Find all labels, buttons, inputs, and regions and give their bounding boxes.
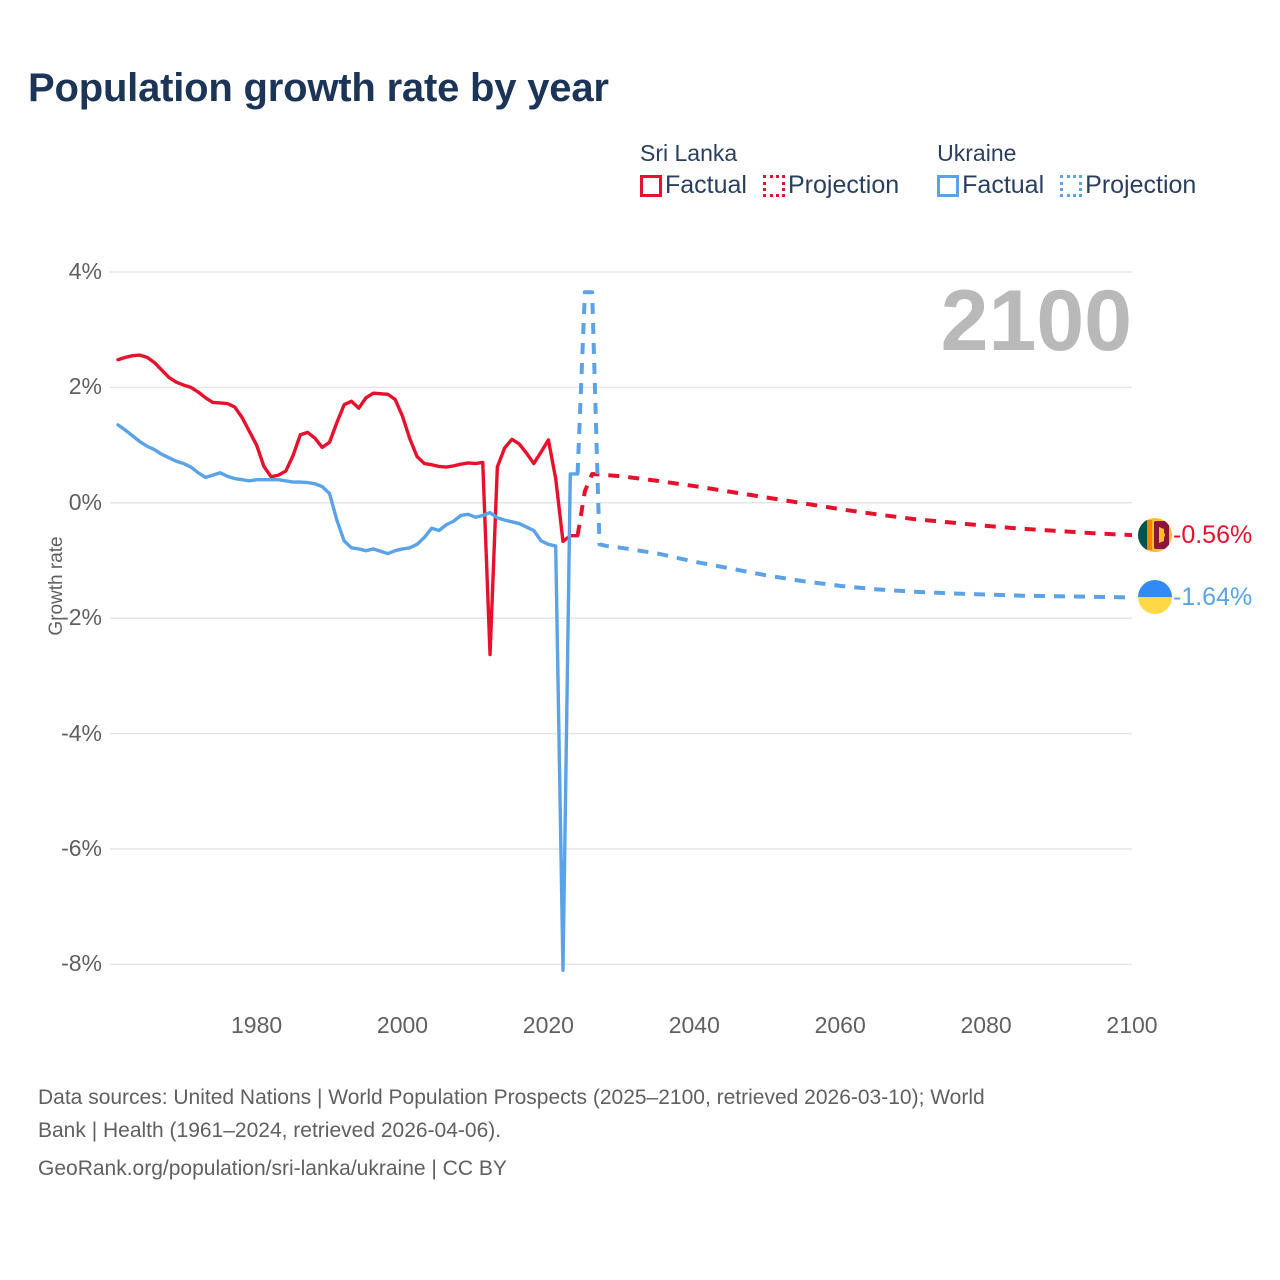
y-axis-title: Growth rate [46, 506, 68, 666]
series-line [118, 355, 578, 654]
x-tick-label: 2020 [488, 1012, 608, 1039]
x-tick-label: 1980 [197, 1012, 317, 1039]
footer-sources-line1: Data sources: United Nations | World Pop… [38, 1082, 1238, 1115]
x-tick-label: 2040 [634, 1012, 754, 1039]
sri-lanka-flag-icon [1138, 518, 1172, 552]
x-tick-label: 2080 [926, 1012, 1046, 1039]
y-tick-label: -6% [0, 835, 102, 862]
watermark-year: 2100 [941, 278, 1132, 364]
y-tick-label: 0% [0, 489, 102, 516]
plot-svg [0, 0, 1280, 1060]
y-tick-label: -8% [0, 950, 102, 977]
y-tick-label: 2% [0, 373, 102, 400]
end-label-ukraine: -1.64% [1138, 580, 1252, 614]
ukraine-flag-icon [1138, 580, 1172, 614]
plot-area [0, 0, 1280, 1060]
footer: Data sources: United Nations | World Pop… [38, 1082, 1238, 1186]
y-tick-label: 4% [0, 258, 102, 285]
gridlines [110, 272, 1132, 964]
series-layer [118, 292, 1132, 970]
x-tick-label: 2060 [780, 1012, 900, 1039]
chart-container: Population growth rate by year Sri Lanka… [0, 0, 1280, 1280]
footer-sources-line2: Bank | Health (1961–2024, retrieved 2026… [38, 1115, 1238, 1148]
x-tick-label: 2000 [343, 1012, 463, 1039]
series-line [118, 425, 578, 970]
x-tick-label: 2100 [1072, 1012, 1192, 1039]
end-value-ukraine: -1.64% [1173, 585, 1252, 610]
footer-attribution[interactable]: GeoRank.org/population/sri-lanka/ukraine… [38, 1153, 1238, 1186]
end-value-sri-lanka: -0.56% [1173, 523, 1252, 548]
end-label-sri-lanka: -0.56% [1138, 518, 1252, 552]
y-tick-label: -4% [0, 720, 102, 747]
y-tick-label: -2% [0, 604, 102, 631]
series-line [578, 474, 1132, 536]
